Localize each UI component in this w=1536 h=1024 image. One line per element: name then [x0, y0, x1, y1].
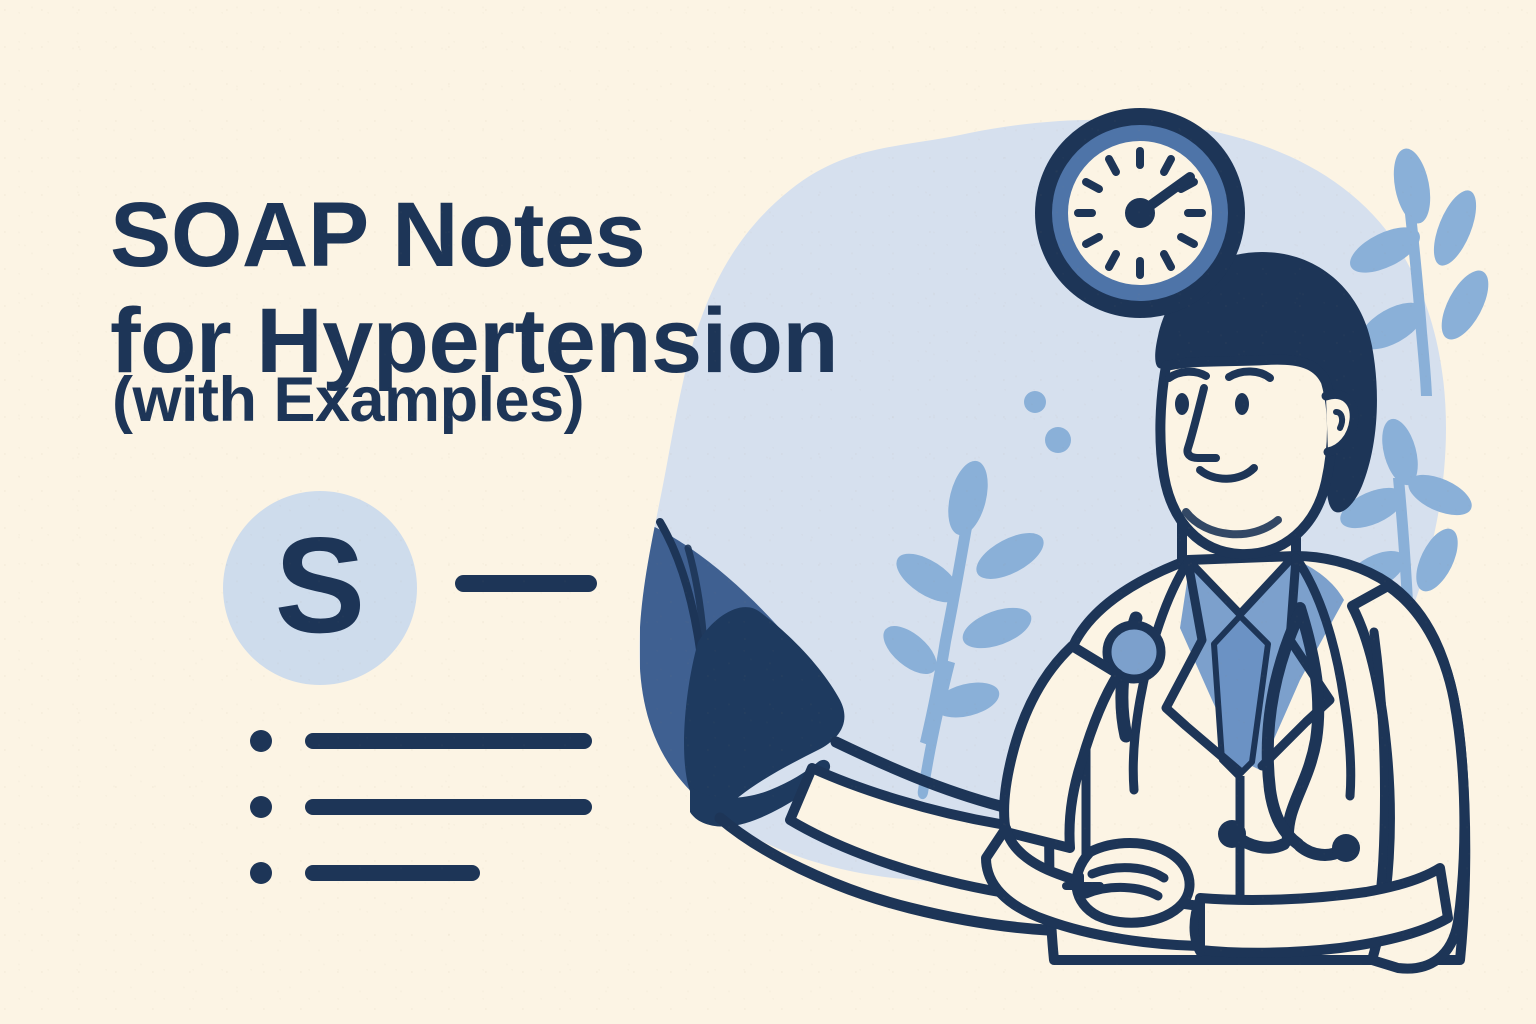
page-title-line-1: SOAP Notes	[110, 184, 645, 286]
gauge-hub	[1125, 198, 1155, 228]
bullet-line-bar	[305, 733, 592, 749]
page-subtitle: (with Examples)	[112, 366, 584, 435]
bullet-line-bar	[305, 799, 592, 815]
page-title: SOAP Notes for Hypertension	[110, 182, 1070, 395]
bullet-dot-icon	[250, 862, 272, 884]
bullet-line-bar	[305, 865, 480, 881]
doctor-eye-left	[1175, 393, 1189, 415]
soap-badge-rule	[455, 575, 597, 592]
poster-canvas: SOAP Notes for Hypertension (with Exampl…	[0, 0, 1536, 1024]
soap-badge-letter: S	[223, 491, 417, 685]
doctor-eye-right	[1235, 393, 1249, 415]
bullet-dot-icon	[250, 730, 272, 752]
soap-section-badge-row: S	[223, 491, 643, 687]
bullet-dot-icon	[250, 796, 272, 818]
